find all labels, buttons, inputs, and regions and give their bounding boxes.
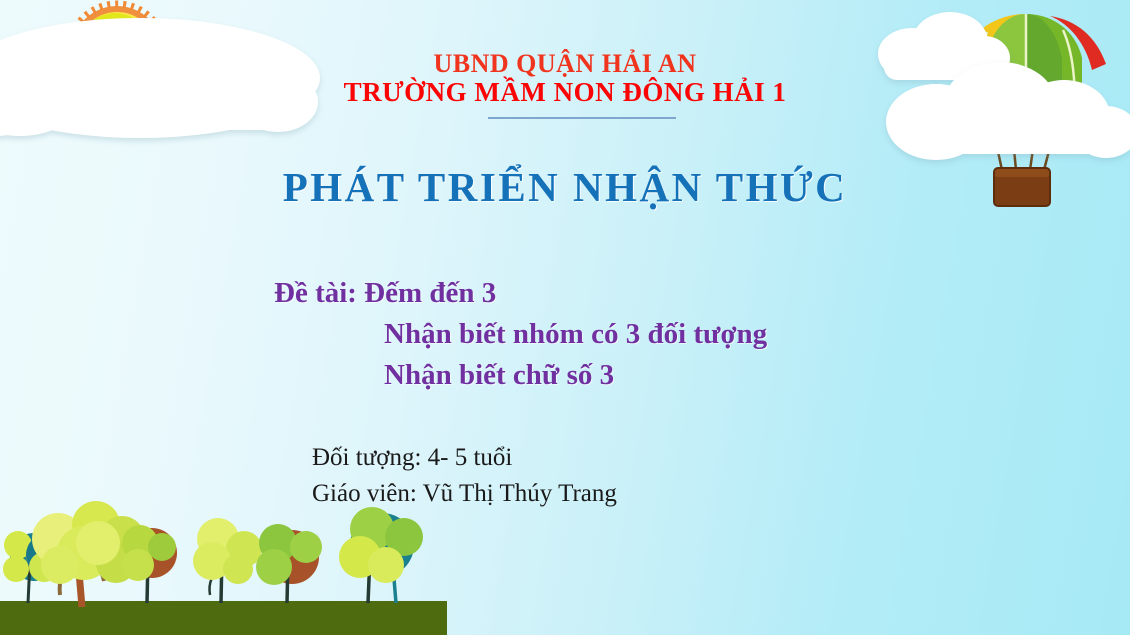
topic-line-2: Nhận biết nhóm có 3 đối tượng <box>274 314 994 355</box>
header-line-1: UBND QUẬN HẢI AN <box>0 50 1130 77</box>
slide-canvas: UBND QUẬN HẢI AN TRƯỜNG MẦM NON ĐÔNG HẢI… <box>0 0 1130 635</box>
header-line-2: TRƯỜNG MẦM NON ĐÔNG HẢI 1 <box>0 77 1130 108</box>
header-underline <box>488 117 676 119</box>
audience-line: Đối tượng: 4- 5 tuổi <box>312 440 1012 476</box>
header-block: UBND QUẬN HẢI AN TRƯỜNG MẦM NON ĐÔNG HẢI… <box>0 50 1130 108</box>
teacher-line: Giáo viên: Vũ Thị Thúy Trang <box>312 476 1012 512</box>
page-title: PHÁT TRIỂN NHẬN THỨC <box>0 163 1130 211</box>
ground-strip <box>0 601 447 635</box>
topic-line-3: Nhận biết chữ số 3 <box>274 355 994 396</box>
meta-block: Đối tượng: 4- 5 tuổi Giáo viên: Vũ Thị T… <box>312 440 1012 511</box>
topic-block: Đề tài: Đếm đến 3 Nhận biết nhóm có 3 đố… <box>274 273 994 397</box>
trees-icon <box>0 495 450 610</box>
topic-line-1: Đề tài: Đếm đến 3 <box>274 277 496 309</box>
